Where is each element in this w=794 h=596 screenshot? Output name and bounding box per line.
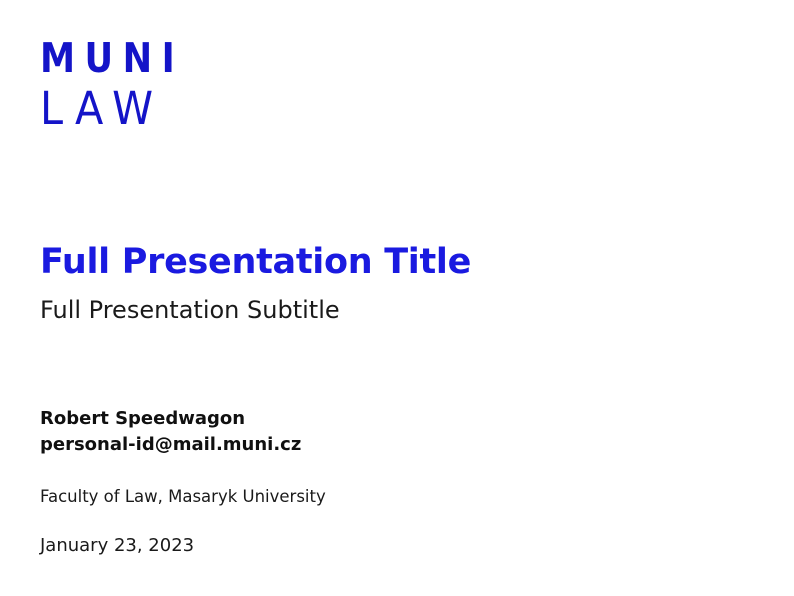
muni-law-logo: MUNI LAW [40,38,208,132]
presentation-title-slide: MUNI LAW Full Presentation Title Full Pr… [0,0,794,596]
page-title: Full Presentation Title [40,243,740,282]
logo-muni-text: MUNI [40,38,184,80]
logo-law-text: LAW [40,86,194,132]
affiliation-text: Faculty of Law, Masaryk University [40,486,740,507]
page-subtitle: Full Presentation Subtitle [40,296,740,325]
presentation-date: January 23, 2023 [40,534,740,557]
author-meta-block: Robert Speedwagon personal-id@mail.muni.… [40,406,740,557]
title-block: Full Presentation Title Full Presentatio… [40,243,740,325]
author-name: Robert Speedwagon [40,406,740,432]
author-email: personal-id@mail.muni.cz [40,432,740,458]
